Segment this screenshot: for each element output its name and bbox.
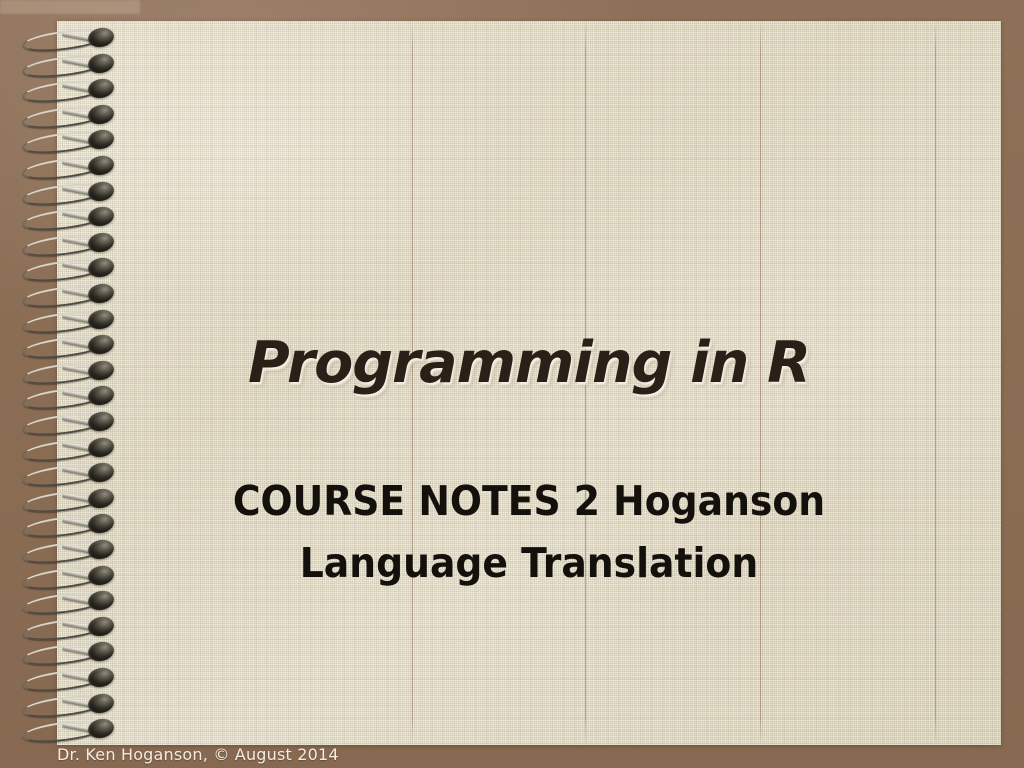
subtitle-line-1: COURSE NOTES 2 Hoganson [95, 470, 963, 532]
background-highlight-band [0, 0, 140, 14]
subtitle-line-2: Language Translation [95, 532, 963, 594]
slide-canvas: Programming in R COURSE NOTES 2 Hoganson… [0, 0, 1024, 768]
slide-subtitle: COURSE NOTES 2 Hoganson Language Transla… [95, 470, 963, 595]
page-title: Programming in R [57, 334, 1001, 394]
footer-credit: Dr. Ken Hoganson, © August 2014 [57, 745, 339, 764]
